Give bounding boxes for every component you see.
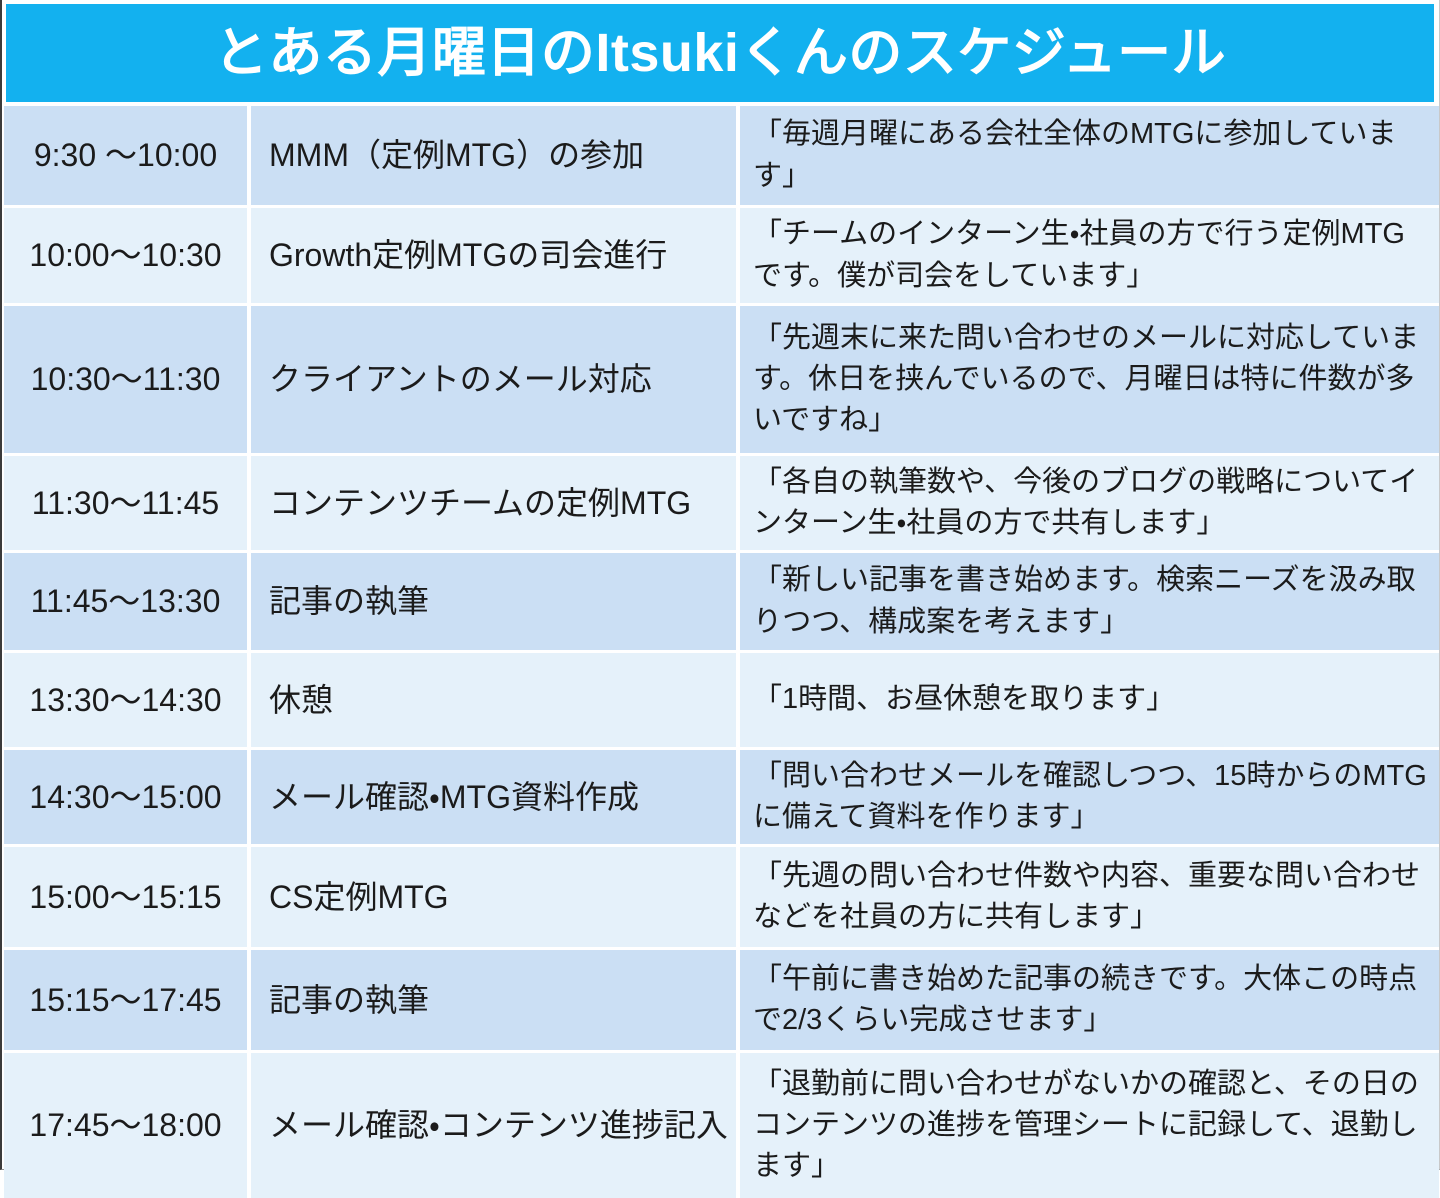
time-label: 9:30 ～10:00 xyxy=(34,137,217,174)
time-label: 11:45～13:30 xyxy=(31,583,221,620)
task-label: 記事の執筆 xyxy=(269,582,429,620)
note-label: 「午前に書き始めた記事の続きです。大体この時点で2/3くらい完成させます」 xyxy=(753,959,1427,1041)
note-label: 「各自の執筆数や、今後のブログの戦略についてインターン生・社員の方で共有します」 xyxy=(753,462,1427,544)
cell-task: MMM（定例MTG）の参加 xyxy=(251,106,736,205)
schedule-table: とある月曜日のItsukiくんのスケジュール 9:30 ～10:00 MMM（定… xyxy=(0,0,1440,1170)
cell-time: 10:30～11:30 xyxy=(4,306,247,453)
cell-note: 「1時間、お昼休憩を取ります」 xyxy=(740,653,1439,747)
table-header-banner: とある月曜日のItsukiくんのスケジュール xyxy=(6,4,1434,102)
time-label: 11:30～11:45 xyxy=(32,485,219,522)
cell-task: メール確認・MTG資料作成 xyxy=(251,750,736,844)
task-label: MMM（定例MTG）の参加 xyxy=(269,136,644,174)
table-row: 11:45～13:30 記事の執筆 「新しい記事を書き始めます。検索ニーズを汲み… xyxy=(4,553,1439,653)
table-row: 14:30～15:00 メール確認・MTG資料作成 「問い合わせメールを確認しつ… xyxy=(4,750,1439,847)
time-label: 13:30～14:30 xyxy=(29,682,221,719)
cell-task: Growth定例MTGの司会進行 xyxy=(251,208,736,303)
cell-time: 17:45～18:00 xyxy=(4,1053,247,1198)
time-label: 10:00～10:30 xyxy=(29,237,221,274)
cell-time: 14:30～15:00 xyxy=(4,750,247,844)
note-label: 「問い合わせメールを確認しつつ、15時からのMTGに備えて資料を作ります」 xyxy=(753,756,1427,838)
note-label: 「毎週月曜にある会社全体のMTGに参加しています」 xyxy=(753,114,1427,196)
note-label: 「チームのインターン生・社員の方で行う定例MTGです。僕が司会をしています」 xyxy=(753,214,1427,296)
note-label: 「先週の問い合わせ件数や内容、重要な問い合わせなどを社員の方に共有します」 xyxy=(753,856,1427,938)
cell-task: メール確認・コンテンツ進捗記入 xyxy=(251,1053,736,1198)
time-label: 17:45～18:00 xyxy=(29,1107,221,1144)
page-title: とある月曜日のItsukiくんのスケジュール xyxy=(214,26,1226,80)
task-label: 休憩 xyxy=(269,681,333,719)
note-label: 「新しい記事を書き始めます。検索ニーズを汲み取りつつ、構成案を考えます」 xyxy=(753,560,1427,642)
table-row: 10:30～11:30 クライアントのメール対応 「先週末に来た問い合わせのメー… xyxy=(4,306,1439,456)
table-row: 15:15～17:45 記事の執筆 「午前に書き始めた記事の続きです。大体この時… xyxy=(4,950,1439,1053)
table-row: 11:30～11:45 コンテンツチームの定例MTG 「各自の執筆数や、今後のブ… xyxy=(4,456,1439,553)
time-label: 15:15～17:45 xyxy=(29,982,221,1019)
cell-task: コンテンツチームの定例MTG xyxy=(251,456,736,550)
task-label: メール確認・コンテンツ進捗記入 xyxy=(269,1106,728,1144)
cell-note: 「チームのインターン生・社員の方で行う定例MTGです。僕が司会をしています」 xyxy=(740,208,1439,303)
cell-task: クライアントのメール対応 xyxy=(251,306,736,453)
cell-time: 11:45～13:30 xyxy=(4,553,247,650)
cell-task: 休憩 xyxy=(251,653,736,747)
time-label: 15:00～15:15 xyxy=(29,879,221,916)
cell-note: 「新しい記事を書き始めます。検索ニーズを汲み取りつつ、構成案を考えます」 xyxy=(740,553,1439,650)
note-label: 「先週末に来た問い合わせのメールに対応しています。休日を挟んでいるので、月曜日は… xyxy=(753,318,1427,442)
cell-time: 11:30～11:45 xyxy=(4,456,247,550)
task-label: メール確認・MTG資料作成 xyxy=(269,778,639,816)
cell-note: 「問い合わせメールを確認しつつ、15時からのMTGに備えて資料を作ります」 xyxy=(740,750,1439,844)
table-row: 9:30 ～10:00 MMM（定例MTG）の参加 「毎週月曜にある会社全体のM… xyxy=(4,106,1439,208)
cell-time: 15:15～17:45 xyxy=(4,950,247,1050)
table-row: 15:00～15:15 CS定例MTG 「先週の問い合わせ件数や内容、重要な問い… xyxy=(4,847,1439,950)
cell-note: 「先週の問い合わせ件数や内容、重要な問い合わせなどを社員の方に共有します」 xyxy=(740,847,1439,947)
cell-time: 15:00～15:15 xyxy=(4,847,247,947)
note-label: 「1時間、お昼休憩を取ります」 xyxy=(753,679,1175,720)
cell-note: 「各自の執筆数や、今後のブログの戦略についてインターン生・社員の方で共有します」 xyxy=(740,456,1439,550)
note-label: 「退勤前に問い合わせがないかの確認と、その日のコンテンツの進捗を管理シートに記録… xyxy=(753,1064,1427,1188)
cell-time: 10:00～10:30 xyxy=(4,208,247,303)
task-label: CS定例MTG xyxy=(269,878,449,916)
time-label: 14:30～15:00 xyxy=(29,779,221,816)
cell-task: CS定例MTG xyxy=(251,847,736,947)
cell-note: 「先週末に来た問い合わせのメールに対応しています。休日を挟んでいるので、月曜日は… xyxy=(740,306,1439,453)
task-label: クライアントのメール対応 xyxy=(269,360,652,398)
table-row: 17:45～18:00 メール確認・コンテンツ進捗記入 「退勤前に問い合わせがな… xyxy=(4,1053,1439,1198)
cell-task: 記事の執筆 xyxy=(251,950,736,1050)
task-label: コンテンツチームの定例MTG xyxy=(269,484,691,522)
task-label: 記事の執筆 xyxy=(269,981,429,1019)
cell-note: 「退勤前に問い合わせがないかの確認と、その日のコンテンツの進捗を管理シートに記録… xyxy=(740,1053,1439,1198)
cell-note: 「午前に書き始めた記事の続きです。大体この時点で2/3くらい完成させます」 xyxy=(740,950,1439,1050)
table-row: 10:00～10:30 Growth定例MTGの司会進行 「チームのインターン生… xyxy=(4,208,1439,306)
task-label: Growth定例MTGの司会進行 xyxy=(269,236,667,274)
schedule-table-body: 9:30 ～10:00 MMM（定例MTG）の参加 「毎週月曜にある会社全体のM… xyxy=(4,106,1439,1198)
time-label: 10:30～11:30 xyxy=(31,361,221,398)
cell-note: 「毎週月曜にある会社全体のMTGに参加しています」 xyxy=(740,106,1439,205)
cell-task: 記事の執筆 xyxy=(251,553,736,650)
cell-time: 13:30～14:30 xyxy=(4,653,247,747)
cell-time: 9:30 ～10:00 xyxy=(4,106,247,205)
table-row: 13:30～14:30 休憩 「1時間、お昼休憩を取ります」 xyxy=(4,653,1439,750)
